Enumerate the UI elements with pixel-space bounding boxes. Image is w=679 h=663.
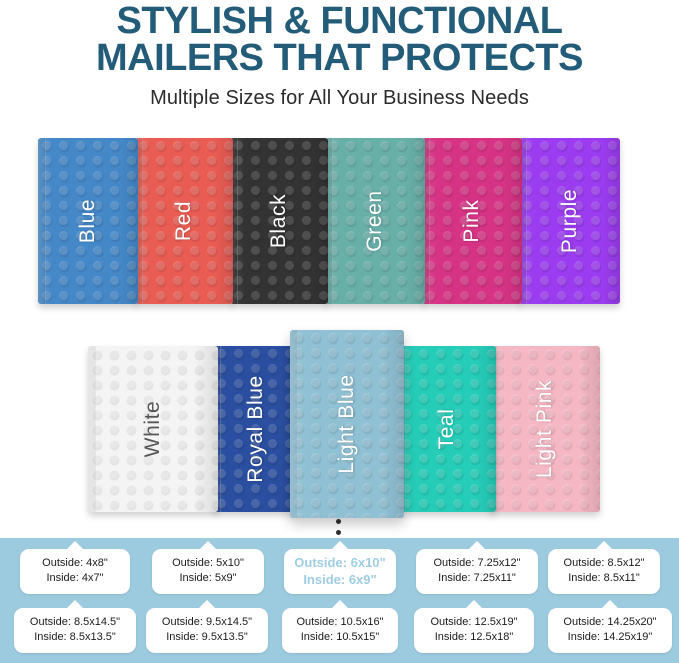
size-card[interactable]: Outside: 14.25x20"Inside: 14.25x19" <box>548 608 672 653</box>
outside-dimension: Outside: 12.5x19" <box>414 615 534 630</box>
mailer-blue[interactable]: Blue <box>38 138 138 304</box>
connector-dot <box>336 530 341 535</box>
outside-dimension: Outside: 6x10" <box>284 554 396 571</box>
size-card[interactable]: Outside: 10.5x16"Inside: 10.5x15" <box>282 608 398 653</box>
mailer-purple[interactable]: Purple <box>519 138 620 304</box>
size-card[interactable]: Outside: 8.5x12"Inside: 8.5x11" <box>548 549 660 594</box>
mailer-color-label: Red <box>172 201 196 241</box>
card-pointer <box>199 541 217 550</box>
mailer-teal[interactable]: Teal <box>398 346 496 512</box>
inside-dimension: Inside: 5x9" <box>152 571 264 586</box>
inside-dimension: Inside: 9.5x13.5" <box>146 630 268 645</box>
card-pointer <box>66 600 84 609</box>
card-pointer <box>198 600 216 609</box>
size-chart-panel: Outside: 4x8"Inside: 4x7"Outside: 5x10"I… <box>0 538 679 663</box>
mailer-light-blue[interactable]: Light Blue <box>290 330 404 518</box>
mailer-red[interactable]: Red <box>135 138 233 304</box>
size-card[interactable]: Outside: 12.5x19"Inside: 12.5x18" <box>414 608 534 653</box>
header: STYLISH & FUNCTIONAL MAILERS THAT PROTEC… <box>0 0 679 120</box>
card-pointer <box>66 541 84 550</box>
inside-dimension: Inside: 4x7" <box>20 571 130 586</box>
card-pointer <box>331 541 349 550</box>
page-subtitle: Multiple Sizes for All Your Business Nee… <box>0 86 679 110</box>
card-pointer <box>465 600 483 609</box>
page-title-line1: STYLISH & FUNCTIONAL <box>0 1 679 41</box>
size-card-selected[interactable]: Outside: 6x10"Inside: 6x9" <box>284 549 396 594</box>
inside-dimension: Inside: 14.25x19" <box>548 630 672 645</box>
inside-dimension: Inside: 10.5x15" <box>282 630 398 645</box>
mailer-green[interactable]: Green <box>325 138 425 304</box>
inside-dimension: Inside: 8.5x11" <box>548 571 660 586</box>
page-title-line2: MAILERS THAT PROTECTS <box>0 38 679 78</box>
mailer-color-label: Green <box>363 190 387 251</box>
size-card[interactable]: Outside: 5x10"Inside: 5x9" <box>152 549 264 594</box>
outside-dimension: Outside: 7.25x12" <box>416 556 538 571</box>
inside-dimension: Inside: 6x9" <box>284 571 396 588</box>
mailer-black[interactable]: Black <box>230 138 328 304</box>
size-card[interactable]: Outside: 9.5x14.5"Inside: 9.5x13.5" <box>146 608 268 653</box>
outside-dimension: Outside: 5x10" <box>152 556 264 571</box>
mailer-seal-strip <box>38 138 46 304</box>
mailer-color-label: Royal Blue <box>244 375 268 483</box>
mailer-row-bottom: WhiteRoyal BlueLight BlueTealLight Pink <box>0 330 679 522</box>
outside-dimension: Outside: 8.5x12" <box>548 556 660 571</box>
mailer-color-label: Pink <box>460 199 484 242</box>
mailer-royal-blue[interactable]: Royal Blue <box>213 346 298 512</box>
infographic-root: STYLISH & FUNCTIONAL MAILERS THAT PROTEC… <box>0 0 679 663</box>
mailer-white[interactable]: White <box>88 346 218 512</box>
card-pointer <box>595 541 613 550</box>
mailer-pink[interactable]: Pink <box>422 138 522 304</box>
size-card[interactable]: Outside: 8.5x14.5"Inside: 8.5x13.5" <box>14 608 136 653</box>
connector-dot <box>336 519 341 524</box>
size-card[interactable]: Outside: 7.25x12"Inside: 7.25x11" <box>416 549 538 594</box>
mailer-color-label: Purple <box>558 189 582 253</box>
outside-dimension: Outside: 10.5x16" <box>282 615 398 630</box>
inside-dimension: Inside: 12.5x18" <box>414 630 534 645</box>
card-pointer <box>331 600 349 609</box>
card-pointer <box>601 600 619 609</box>
size-card[interactable]: Outside: 4x8"Inside: 4x7" <box>20 549 130 594</box>
mailer-color-label: Black <box>267 194 291 248</box>
mailer-color-label: Light Blue <box>335 374 359 473</box>
mailer-color-label: White <box>141 401 165 458</box>
mailer-color-label: Light Pink <box>533 380 557 478</box>
inside-dimension: Inside: 7.25x11" <box>416 571 538 586</box>
mailer-light-pink[interactable]: Light Pink <box>490 346 600 512</box>
outside-dimension: Outside: 4x8" <box>20 556 130 571</box>
inside-dimension: Inside: 8.5x13.5" <box>14 630 136 645</box>
mailer-row-top: BlueRedBlackGreenPinkPurple <box>0 138 679 306</box>
mailer-seal-strip <box>290 330 298 518</box>
mailer-seal-strip <box>88 346 96 512</box>
mailer-color-label: Blue <box>76 199 100 243</box>
card-pointer <box>468 541 486 550</box>
outside-dimension: Outside: 8.5x14.5" <box>14 615 136 630</box>
outside-dimension: Outside: 14.25x20" <box>548 615 672 630</box>
outside-dimension: Outside: 9.5x14.5" <box>146 615 268 630</box>
mailer-color-label: Teal <box>435 409 459 450</box>
